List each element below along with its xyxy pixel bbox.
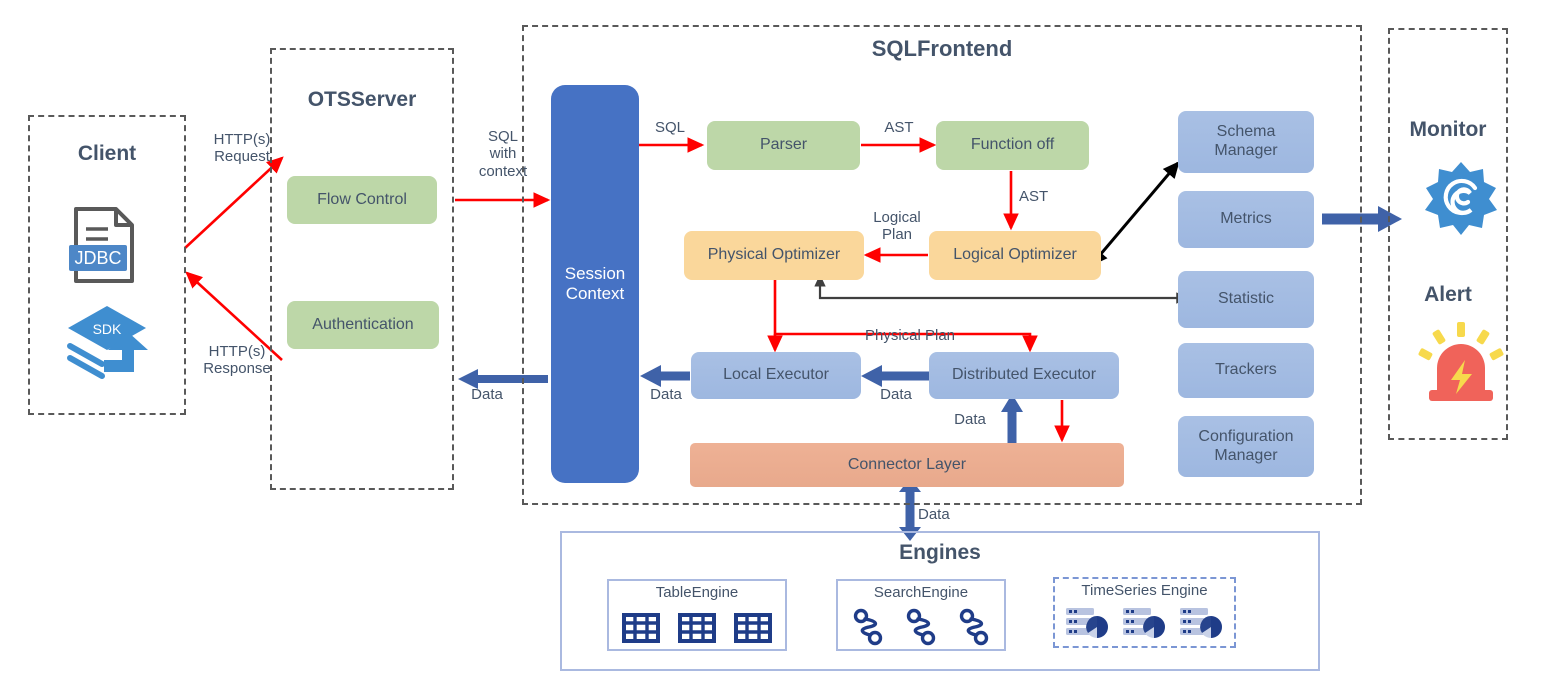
node-label: Function off xyxy=(971,136,1054,155)
table-grid-icon xyxy=(734,612,772,644)
label-data-local: Data xyxy=(638,386,694,403)
label-physical-plan: Physical Plan xyxy=(845,327,975,344)
node-authentication[interactable]: Authentication xyxy=(287,301,439,349)
node-label: Trackers xyxy=(1215,361,1277,380)
node-label: Physical Optimizer xyxy=(708,246,840,265)
monitor-label: Monitor xyxy=(1388,118,1508,142)
server-pie-icon xyxy=(1064,606,1112,640)
label-data-to-client: Data xyxy=(458,386,516,403)
node-function-off[interactable]: Function off xyxy=(936,121,1089,170)
arrow-http-request xyxy=(185,158,282,248)
server-pie-icon xyxy=(1178,606,1226,640)
node-label: Connector Layer xyxy=(848,456,966,475)
manager-metrics[interactable]: Metrics xyxy=(1178,191,1314,248)
label-ast-1: AST xyxy=(866,119,932,136)
node-graph-icon xyxy=(904,608,938,646)
node-label: Session Context xyxy=(565,264,625,304)
manager-statistic[interactable]: Statistic xyxy=(1178,271,1314,328)
label-data-engines: Data xyxy=(918,506,976,523)
node-local-executor[interactable]: Local Executor xyxy=(691,352,861,399)
node-label: Configuration Manager xyxy=(1198,428,1293,466)
engine-group-title: SearchEngine xyxy=(836,584,1006,601)
node-logical-optimizer[interactable]: Logical Optimizer xyxy=(929,231,1101,280)
manager-configuration-manager[interactable]: Configuration Manager xyxy=(1178,416,1314,477)
engine-group-title: TableEngine xyxy=(607,584,787,601)
siren-icon xyxy=(1415,320,1507,404)
node-parser[interactable]: Parser xyxy=(707,121,860,170)
node-label: Distributed Executor xyxy=(952,366,1096,385)
table-grid-icon xyxy=(622,612,660,644)
label-http-request: HTTP(s) Request xyxy=(190,131,294,166)
label-data-dist: Data xyxy=(868,386,924,403)
node-physical-optimizer[interactable]: Physical Optimizer xyxy=(684,231,864,280)
table-engine-icons xyxy=(613,609,781,647)
node-label: Logical Optimizer xyxy=(953,246,1077,265)
search-engine-icons xyxy=(842,606,1000,648)
label-logical-plan: Logical Plan xyxy=(862,209,932,244)
server-pie-icon xyxy=(1121,606,1169,640)
node-session-context[interactable]: Session Context xyxy=(551,85,639,483)
svg-text:JDBC: JDBC xyxy=(74,248,121,268)
node-graph-icon xyxy=(851,608,885,646)
node-label: Statistic xyxy=(1218,290,1274,309)
label-sql-with-context: SQL with context xyxy=(458,128,548,180)
engine-group-title: TimeSeries Engine xyxy=(1053,582,1236,599)
label-data-connector: Data xyxy=(940,411,1000,428)
node-label: Metrics xyxy=(1220,210,1272,229)
svg-text:SDK: SDK xyxy=(93,321,122,337)
node-label: Local Executor xyxy=(723,366,829,385)
node-label: Authentication xyxy=(312,316,413,335)
table-grid-icon xyxy=(678,612,716,644)
otsserver-title: OTSServer xyxy=(270,88,454,112)
node-connector-layer[interactable]: Connector Layer xyxy=(690,443,1124,487)
client-title: Client xyxy=(28,142,186,166)
node-flow-control[interactable]: Flow Control xyxy=(287,176,437,224)
jdbc-icon: JDBC xyxy=(68,205,140,285)
manager-trackers[interactable]: Trackers xyxy=(1178,343,1314,398)
node-label: Flow Control xyxy=(317,191,407,210)
node-label: Parser xyxy=(760,136,807,155)
sdk-icon: SDK xyxy=(62,302,152,382)
engines-title: Engines xyxy=(560,541,1320,565)
manager-schema-manager[interactable]: Schema Manager xyxy=(1178,111,1314,173)
alert-label: Alert xyxy=(1388,283,1508,307)
sqlfrontend-title: SQLFrontend xyxy=(522,36,1362,62)
timeseries-engine-icons xyxy=(1060,605,1230,641)
node-label: Schema Manager xyxy=(1214,123,1277,161)
label-http-response: HTTP(s) Response xyxy=(182,343,292,378)
label-sql: SQL xyxy=(640,119,700,136)
otsserver-panel xyxy=(270,48,454,490)
label-ast-2: AST xyxy=(1019,188,1067,205)
node-distributed-executor[interactable]: Distributed Executor xyxy=(929,352,1119,399)
node-graph-icon xyxy=(957,608,991,646)
grafana-spiral-icon xyxy=(1418,158,1504,238)
